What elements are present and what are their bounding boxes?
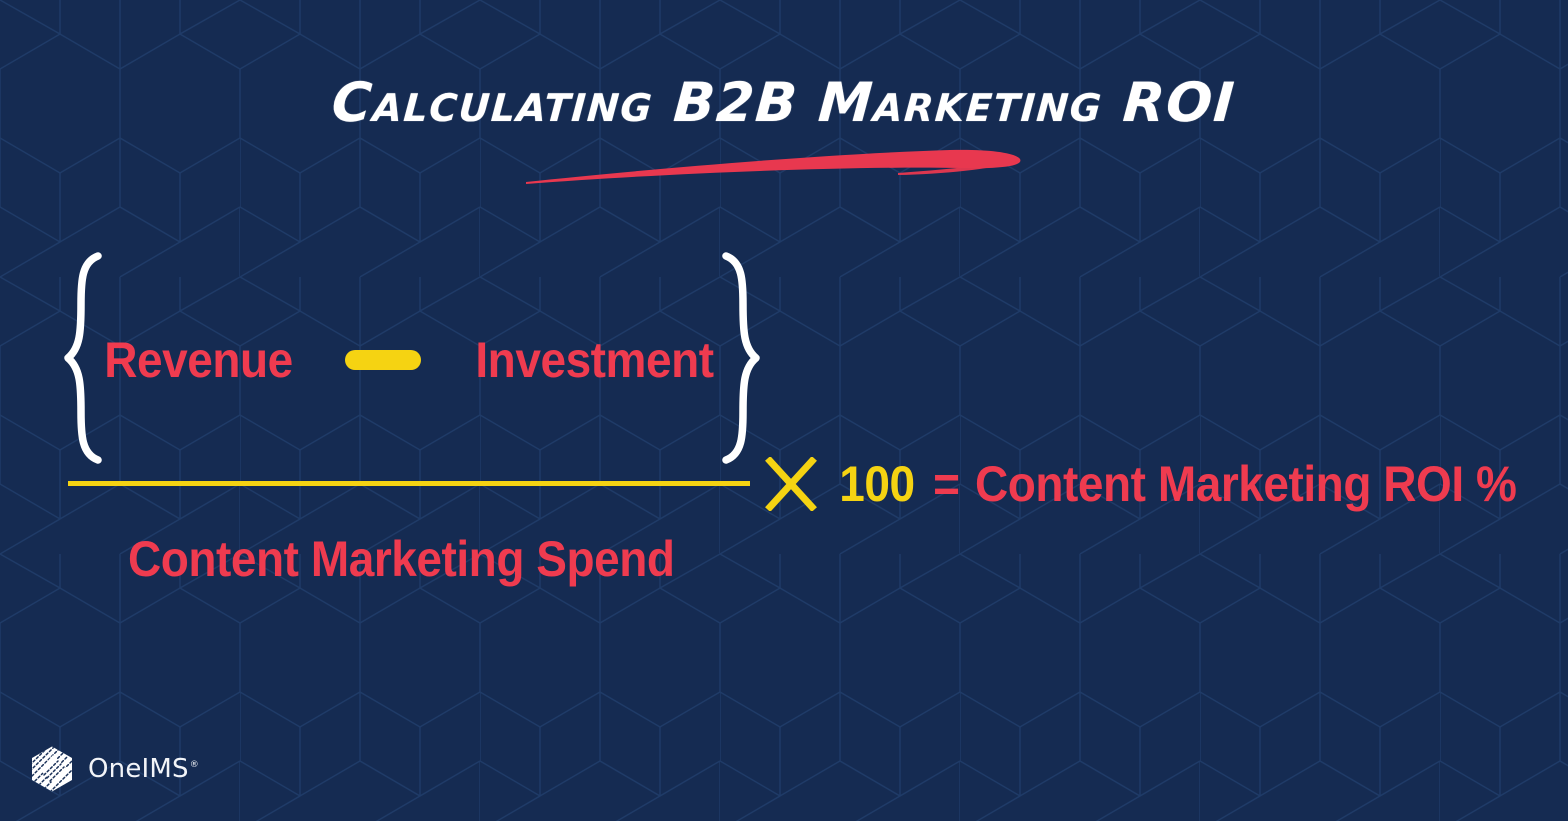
numerator-right-term: Investment xyxy=(475,331,713,389)
fraction-numerator: Revenue Investment xyxy=(100,328,720,392)
fraction-bar xyxy=(68,481,750,486)
result-label: Content Marketing ROI % xyxy=(975,455,1516,513)
slide-canvas: Calculating B2B Marketing ROI Revenue In… xyxy=(0,0,1568,821)
numerator-left-term: Revenue xyxy=(104,331,293,389)
multiply-x-icon xyxy=(764,457,818,511)
page-title: Calculating B2B Marketing ROI xyxy=(330,74,1237,131)
equals-sign: = xyxy=(933,455,960,513)
multiplier-value: 100 xyxy=(839,455,914,513)
minus-sign-icon xyxy=(345,350,421,370)
oneims-hexagon-logo-icon xyxy=(28,745,76,793)
title-block: Calculating B2B Marketing ROI xyxy=(0,74,1568,131)
fraction-denominator: Content Marketing Spend xyxy=(128,530,675,588)
logo-text-label: OneIMS xyxy=(88,754,189,784)
equation-tail: 100 = Content Marketing ROI % xyxy=(764,452,1564,516)
logo-wordmark: OneIMS® xyxy=(88,754,199,784)
brand-logo: OneIMS® xyxy=(28,744,199,794)
registered-mark: ® xyxy=(190,760,199,770)
curly-brace-right-icon xyxy=(716,252,762,464)
title-underline-swoosh-icon xyxy=(520,140,1040,196)
